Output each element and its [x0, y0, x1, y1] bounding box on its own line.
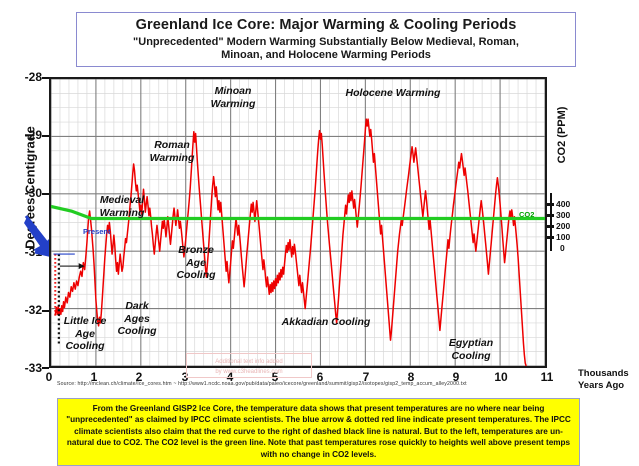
- annotation-dark-ages-cooling: Dark Ages Cooling: [107, 300, 167, 338]
- chart-page: Greenland Ice Core: Major Warming & Cool…: [0, 0, 639, 465]
- source-line: Source: http://mclean.ch/climate/Ice_cor…: [57, 381, 467, 387]
- annotation-egyptian-cooling: Egyptian Cooling: [431, 337, 511, 362]
- y-tick-label-2: -30: [6, 186, 42, 200]
- page-title: Greenland Ice Core: Major Warming & Cool…: [77, 17, 575, 33]
- page-subtitle-line-1: "Unprecedented" Modern Warming Substanti…: [77, 36, 575, 49]
- annotation-akkadian-cooling: Akkadian Cooling: [266, 316, 386, 329]
- annotation-bronze-age-cooling: Bronze Age Cooling: [160, 244, 232, 282]
- co2-tick-label-2: 200: [556, 221, 570, 231]
- plot-area: Medieval Warming Roman Warming Minoan Wa…: [49, 77, 547, 368]
- y-tick-label-0: -28: [6, 70, 42, 84]
- y-tick-mark-5: [42, 367, 49, 369]
- annotation-minoan-warming: Minoan Warming: [188, 85, 278, 110]
- annotation-present-label: Present: [83, 227, 111, 236]
- co2-tick-label-3: 100: [556, 232, 570, 242]
- y-tick-mark-2: [42, 193, 49, 195]
- watermark-text: Additional text info added by www.c3head…: [215, 359, 282, 375]
- x-axis-title: Thousands Years Ago: [578, 368, 638, 392]
- co2-tick-label-4: 0: [560, 243, 565, 253]
- caption-box: From the Greenland GISP2 Ice Core, the t…: [57, 398, 580, 466]
- watermark: Additional text info added by www.c3head…: [186, 353, 312, 378]
- y-tick-label-1: -29: [6, 128, 42, 142]
- x-tick-label-11: 11: [532, 370, 562, 384]
- annotation-roman-warming: Roman Warming: [127, 139, 217, 164]
- co2-axis-line: [550, 193, 552, 251]
- annotation-holocene-warming: Holocene Warming: [328, 87, 458, 100]
- present-direction-arrow: [60, 263, 85, 269]
- y-tick-mark-1: [42, 135, 49, 137]
- x-tick-label-10: 10: [486, 370, 516, 384]
- annotation-medieval-warming: Medieval Warming: [77, 194, 167, 219]
- y-tick-mark-0: [42, 77, 49, 79]
- annotation-co2-label: CO2: [519, 210, 534, 219]
- co2-axis-title: CO2 (PPM): [556, 75, 568, 195]
- co2-tick-label-0: 400: [556, 199, 570, 209]
- y-tick-mark-4: [42, 310, 49, 312]
- title-box: Greenland Ice Core: Major Warming & Cool…: [76, 12, 576, 67]
- x-axis-title-line-1: Thousands: [578, 368, 638, 380]
- page-subtitle-line-2: Minoan, and Holocene Warming Periods: [77, 49, 575, 62]
- x-axis-title-line-2: Years Ago: [578, 380, 638, 392]
- co2-tick-label-1: 300: [556, 210, 570, 220]
- caption-text: From the Greenland GISP2 Ice Core, the t…: [66, 404, 571, 459]
- y-tick-label-4: -32: [6, 303, 42, 317]
